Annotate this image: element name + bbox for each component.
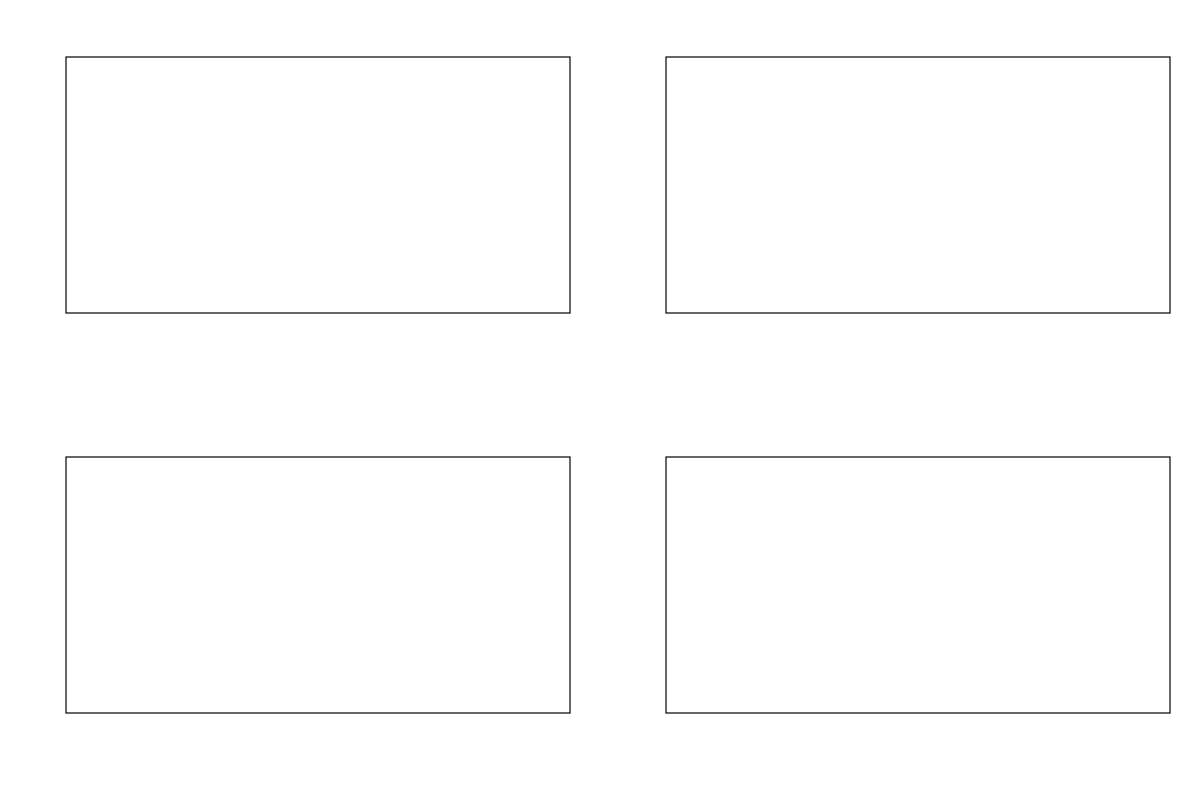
panel-price-time-series	[0, 0, 600, 400]
return-plot-box	[666, 57, 1170, 313]
return-time-series-svg	[600, 0, 1200, 400]
panel-return-time-series	[600, 0, 1200, 400]
panel-return-distribution	[0, 400, 600, 800]
histogram-plot-box	[666, 457, 1170, 713]
panel-return-frequency-distribution	[600, 400, 1200, 800]
price-time-series-svg	[0, 0, 600, 400]
plot-page	[0, 0, 1200, 800]
price-plot-box	[66, 57, 570, 313]
density-plot-box	[66, 457, 570, 713]
return-distribution-svg	[0, 400, 600, 800]
return-frequency-svg	[600, 400, 1200, 800]
